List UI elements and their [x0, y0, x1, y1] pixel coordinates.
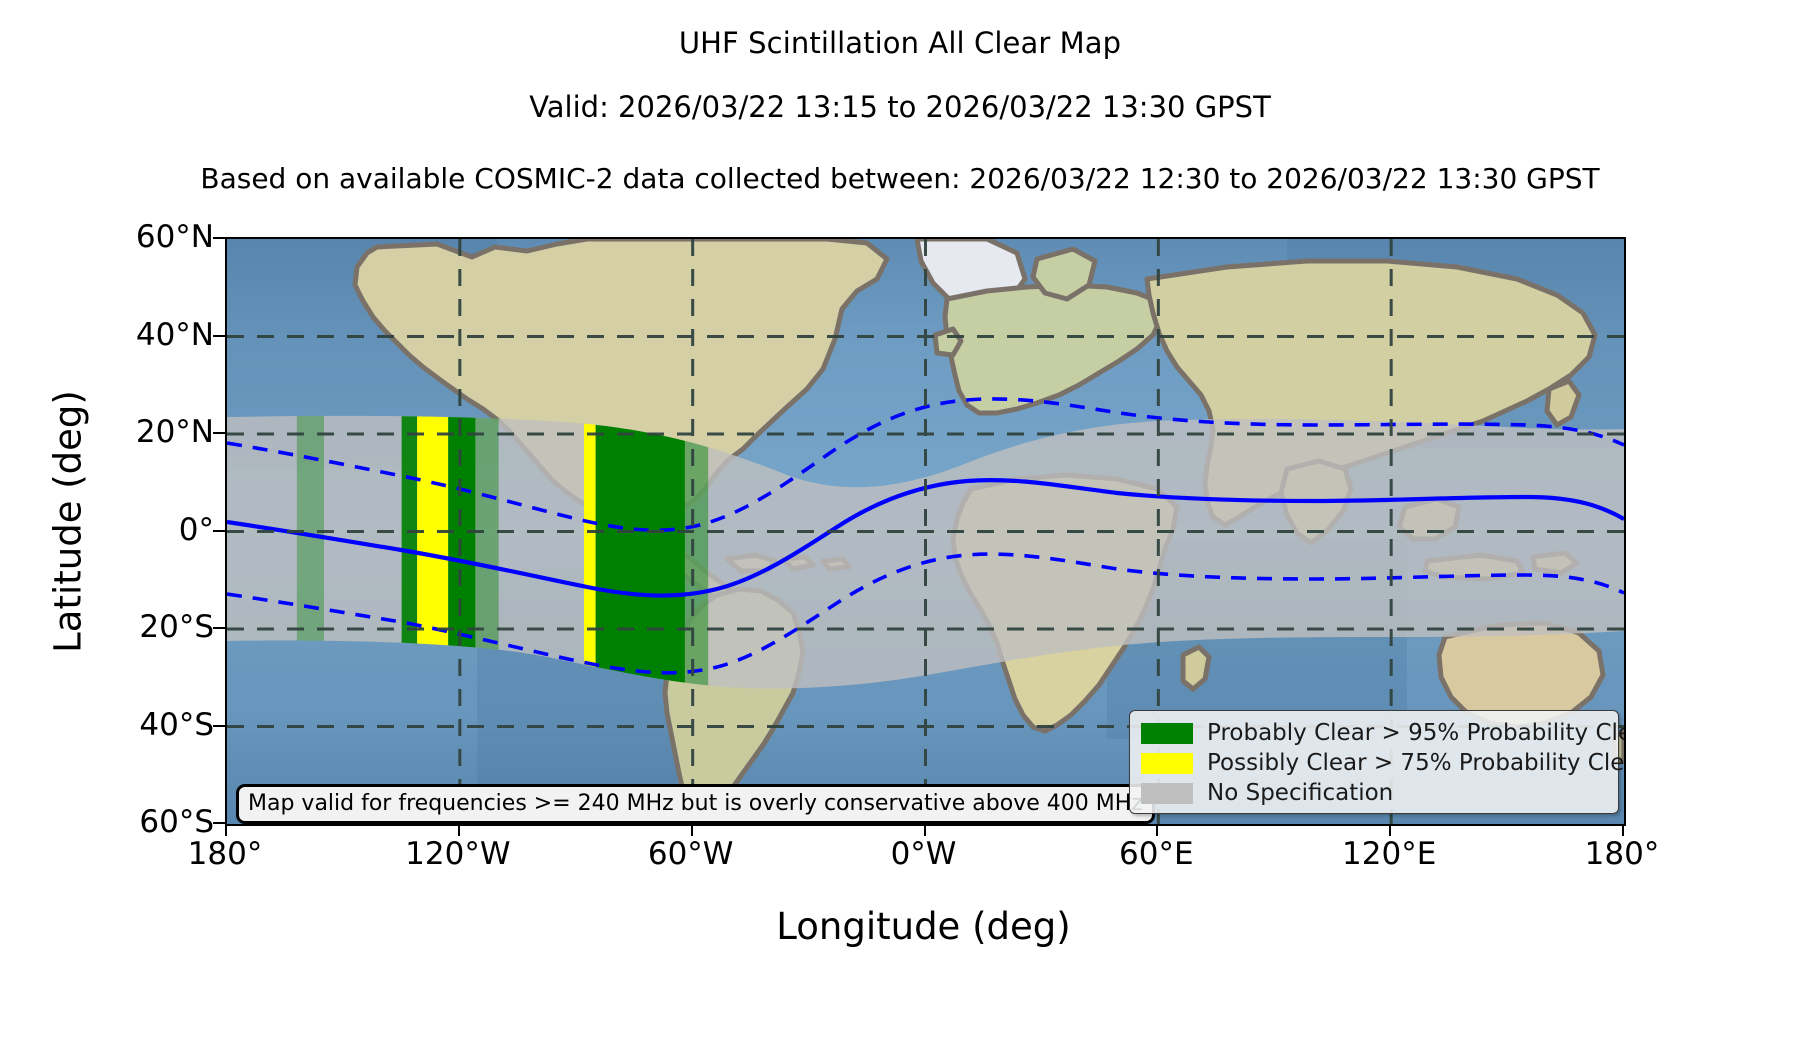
y-tick-mark: [213, 530, 225, 532]
figure-canvas: UHF Scintillation All Clear Map Valid: 2…: [0, 0, 1800, 1050]
y-tick-mark: [213, 335, 225, 337]
x-tick-label: 180°: [1585, 836, 1660, 872]
y-axis-label: Latitude (deg): [47, 222, 90, 822]
legend-label-probably-clear: Probably Clear > 95% Probability Clear: [1207, 720, 1624, 746]
frequency-validity-note: Map valid for frequencies >= 240 MHz but…: [236, 784, 1155, 824]
x-tick-label: 180°: [188, 836, 263, 872]
x-tick-label: 60°E: [1119, 836, 1194, 872]
page-title: UHF Scintillation All Clear Map: [0, 26, 1800, 60]
map-canvas: Map valid for frequencies >= 240 MHz but…: [227, 239, 1624, 824]
y-tick-mark: [213, 627, 225, 629]
y-tick-label: 60°S: [139, 804, 214, 840]
valid-time-subtitle: Valid: 2026/03/22 13:15 to 2026/03/22 13…: [0, 90, 1800, 124]
legend-label-possibly-clear: Possibly Clear > 75% Probability Clear: [1207, 750, 1624, 776]
legend-swatch-no-specification: [1141, 783, 1193, 804]
map-plot-area[interactable]: Map valid for frequencies >= 240 MHz but…: [225, 237, 1626, 826]
legend-swatch-probably-clear: [1141, 723, 1193, 744]
x-tick-label: 120°W: [405, 836, 510, 872]
y-tick-label: 0°: [179, 512, 214, 548]
y-tick-mark: [213, 237, 225, 239]
y-tick-label: 60°N: [136, 219, 214, 255]
y-tick-mark: [213, 822, 225, 824]
x-tick-label: 60°W: [648, 836, 734, 872]
legend-label-no-specification: No Specification: [1207, 780, 1393, 806]
y-tick-label: 40°S: [139, 707, 214, 743]
y-tick-label: 40°N: [136, 317, 214, 353]
legend-item[interactable]: No Specification: [1141, 778, 1618, 808]
x-tick-label: 0°W: [891, 836, 957, 872]
legend-item[interactable]: Possibly Clear > 75% Probability Clear: [1141, 748, 1618, 778]
y-tick-mark: [213, 432, 225, 434]
legend-swatch-possibly-clear: [1141, 753, 1193, 774]
legend-item[interactable]: Probably Clear > 95% Probability Clear: [1141, 718, 1618, 748]
x-axis-label: Longitude (deg): [225, 905, 1622, 948]
x-tick-label: 120°E: [1342, 836, 1436, 872]
data-source-subtitle: Based on available COSMIC-2 data collect…: [0, 162, 1800, 195]
map-legend[interactable]: Probably Clear > 95% Probability Clear P…: [1129, 710, 1619, 814]
y-tick-label: 20°N: [136, 414, 214, 450]
y-tick-label: 20°S: [139, 609, 214, 645]
y-tick-mark: [213, 725, 225, 727]
